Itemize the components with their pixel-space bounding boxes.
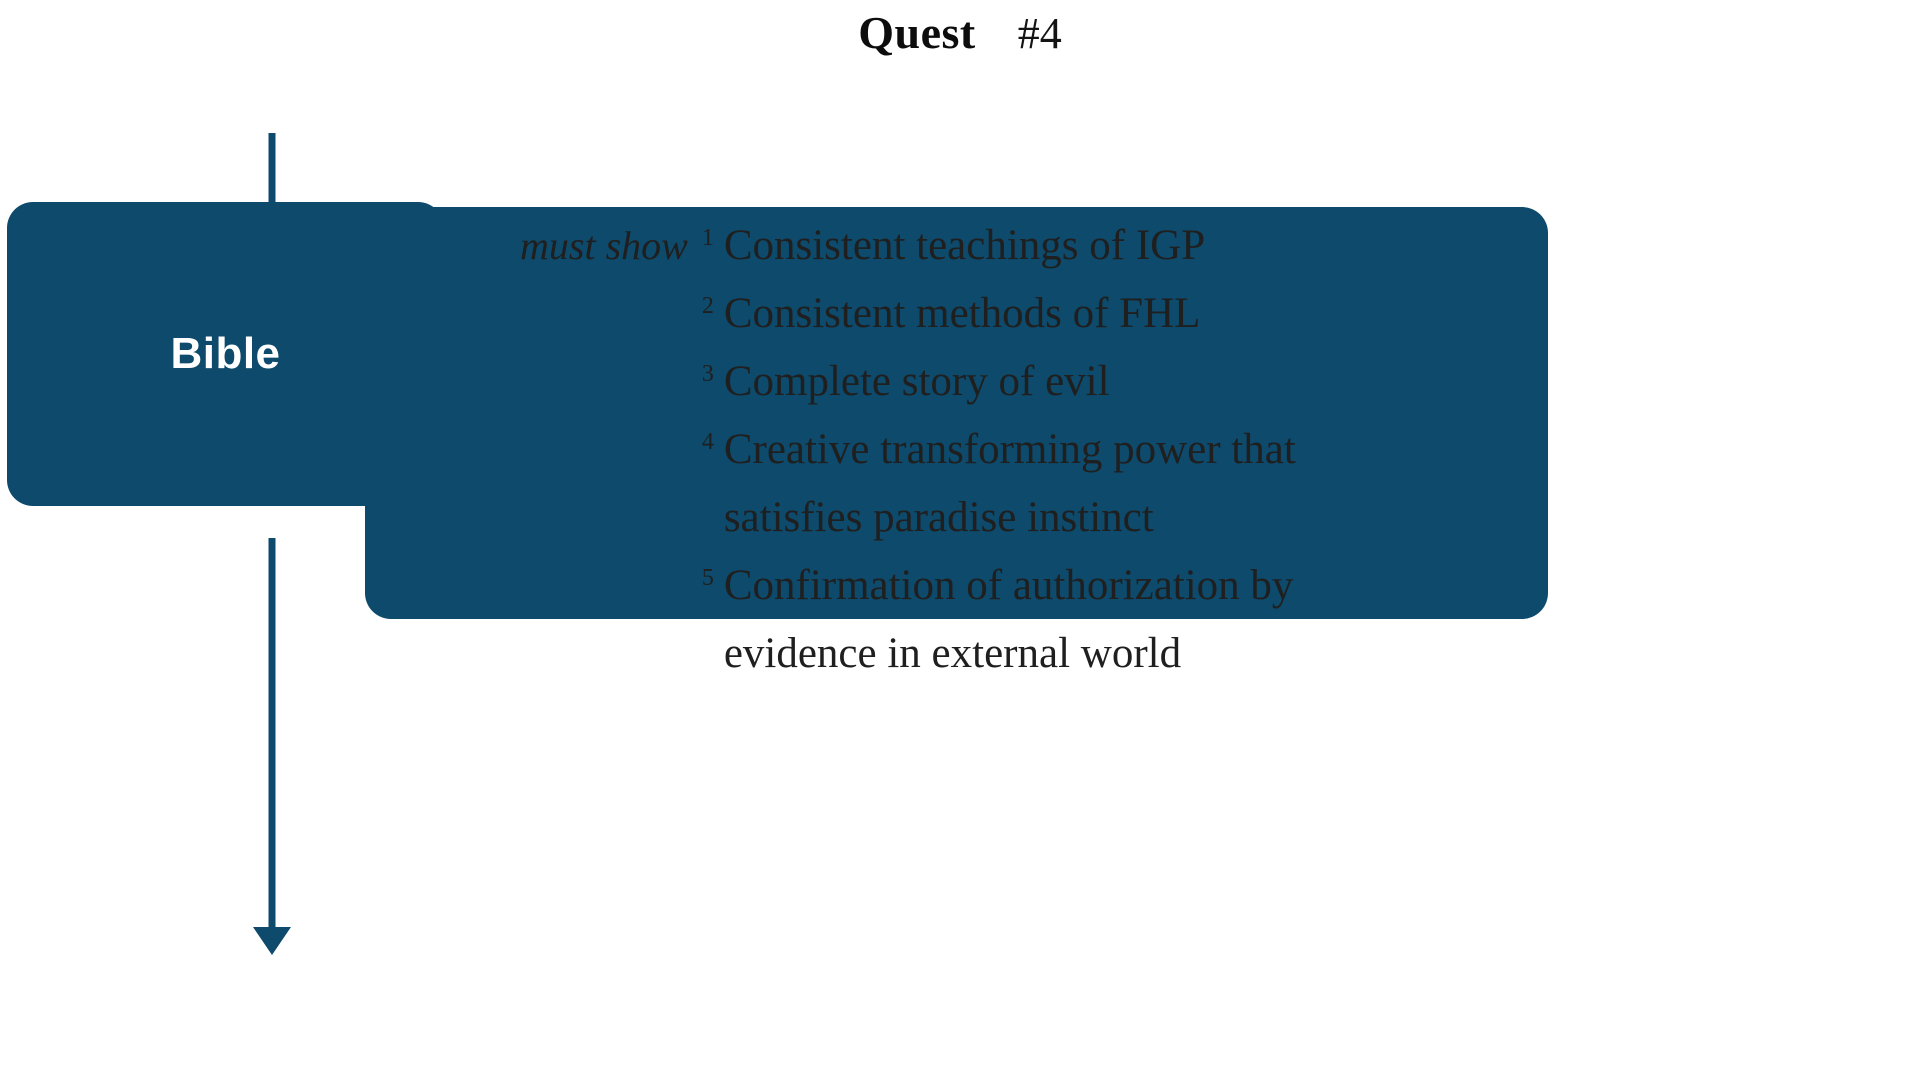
list-item: 5 Confirmation of authorization by evide… [702, 552, 1444, 688]
list-item-text: Complete story of evil [724, 348, 1444, 416]
list-item-number: 1 [702, 226, 724, 250]
page-title: Quest#4 [0, 10, 1920, 56]
title-main-text: Quest [858, 7, 976, 58]
list-item-number: 4 [702, 430, 724, 454]
requirements-content: must show 1 Consistent teachings of IGP … [520, 212, 1510, 688]
list-item-text: Confirmation of authorization by evidenc… [724, 552, 1444, 688]
list-item-number: 2 [702, 294, 724, 318]
list-item: 2 Consistent methods of FHL [702, 280, 1444, 348]
title-number-text: #4 [1018, 9, 1062, 58]
list-item: 3 Complete story of evil [702, 348, 1444, 416]
bible-node-label: Bible [7, 202, 444, 506]
requirements-row: must show 1 Consistent teachings of IGP … [520, 212, 1510, 688]
list-item-text: Consistent methods of FHL [724, 280, 1444, 348]
diagram-canvas: Quest#4 Bible must show 1 Consistent tea… [0, 0, 1920, 1080]
list-item-number: 5 [702, 566, 724, 590]
list-item-text: Creative transforming power that satisfi… [724, 416, 1444, 552]
list-item-text: Consistent teachings of IGP [724, 212, 1444, 280]
outgoing-down-arrow-icon [240, 530, 304, 965]
list-item-number: 3 [702, 362, 724, 386]
requirements-list: 1 Consistent teachings of IGP 2 Consiste… [702, 212, 1444, 688]
list-item: 4 Creative transforming power that satis… [702, 416, 1444, 552]
must-show-label: must show [520, 212, 702, 280]
list-item: 1 Consistent teachings of IGP [702, 212, 1444, 280]
